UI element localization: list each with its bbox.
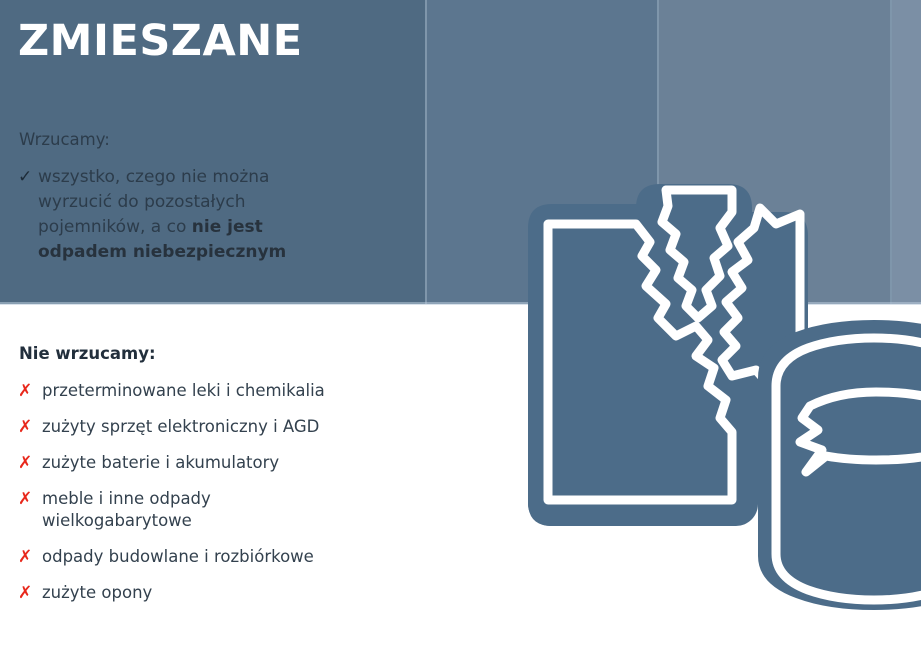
reject-list-item: ✗ odpady budowlane i rozbiórkowe — [18, 546, 418, 568]
panel-divider-2 — [657, 0, 659, 304]
reject-item-text: meble i inne odpady wielkogabarytowe — [42, 488, 242, 532]
reject-item-text: odpady budowlane i rozbiórkowe — [42, 546, 418, 568]
accept-list-item: ✓ wszystko, czego nie można wyrzucić do … — [18, 165, 318, 265]
accept-heading: Wrzucamy: — [19, 129, 110, 151]
accept-list: ✓ wszystko, czego nie można wyrzucić do … — [18, 165, 318, 265]
reject-list-item: ✗ zużyte baterie i akumulatory — [18, 452, 418, 474]
cross-mark-icon: ✗ — [18, 582, 42, 604]
dented-can-icon — [758, 320, 921, 610]
cross-mark-icon: ✗ — [18, 416, 42, 438]
cross-mark-icon: ✗ — [18, 488, 42, 510]
background-panel-3 — [659, 0, 890, 304]
reject-item-text: przeterminowane leki i chemikalia — [42, 380, 418, 402]
cross-mark-icon: ✗ — [18, 380, 42, 402]
reject-heading: Nie wrzucamy: — [19, 343, 156, 365]
reject-list-item: ✗ zużyte opony — [18, 582, 418, 604]
reject-list-item: ✗ meble i inne odpady wielkogabarytowe — [18, 488, 418, 532]
reject-item-text: zużyte baterie i akumulatory — [42, 452, 418, 474]
waste-category-poster: ZMIESZANE Wrzucamy: ✓ wszystko, czego ni… — [0, 0, 921, 645]
band-bottom-edge — [0, 302, 921, 305]
cross-mark-icon: ✗ — [18, 452, 42, 474]
reject-list-item: ✗ zużyty sprzęt elektroniczny i AGD — [18, 416, 418, 438]
check-mark-icon: ✓ — [18, 165, 38, 190]
reject-item-text: zużyte opony — [42, 582, 418, 604]
reject-list-item: ✗ przeterminowane leki i chemikalia — [18, 380, 418, 402]
background-panel-4 — [892, 0, 921, 304]
cross-mark-icon: ✗ — [18, 546, 42, 568]
accept-item-text: wszystko, czego nie można wyrzucić do po… — [38, 165, 318, 265]
panel-divider-3 — [890, 0, 892, 304]
page-title: ZMIESZANE — [18, 16, 303, 66]
background-panel-2 — [427, 0, 657, 304]
reject-item-text: zużyty sprzęt elektroniczny i AGD — [42, 416, 418, 438]
panel-divider-1 — [425, 0, 427, 304]
reject-list: ✗ przeterminowane leki i chemikalia ✗ zu… — [18, 380, 418, 618]
